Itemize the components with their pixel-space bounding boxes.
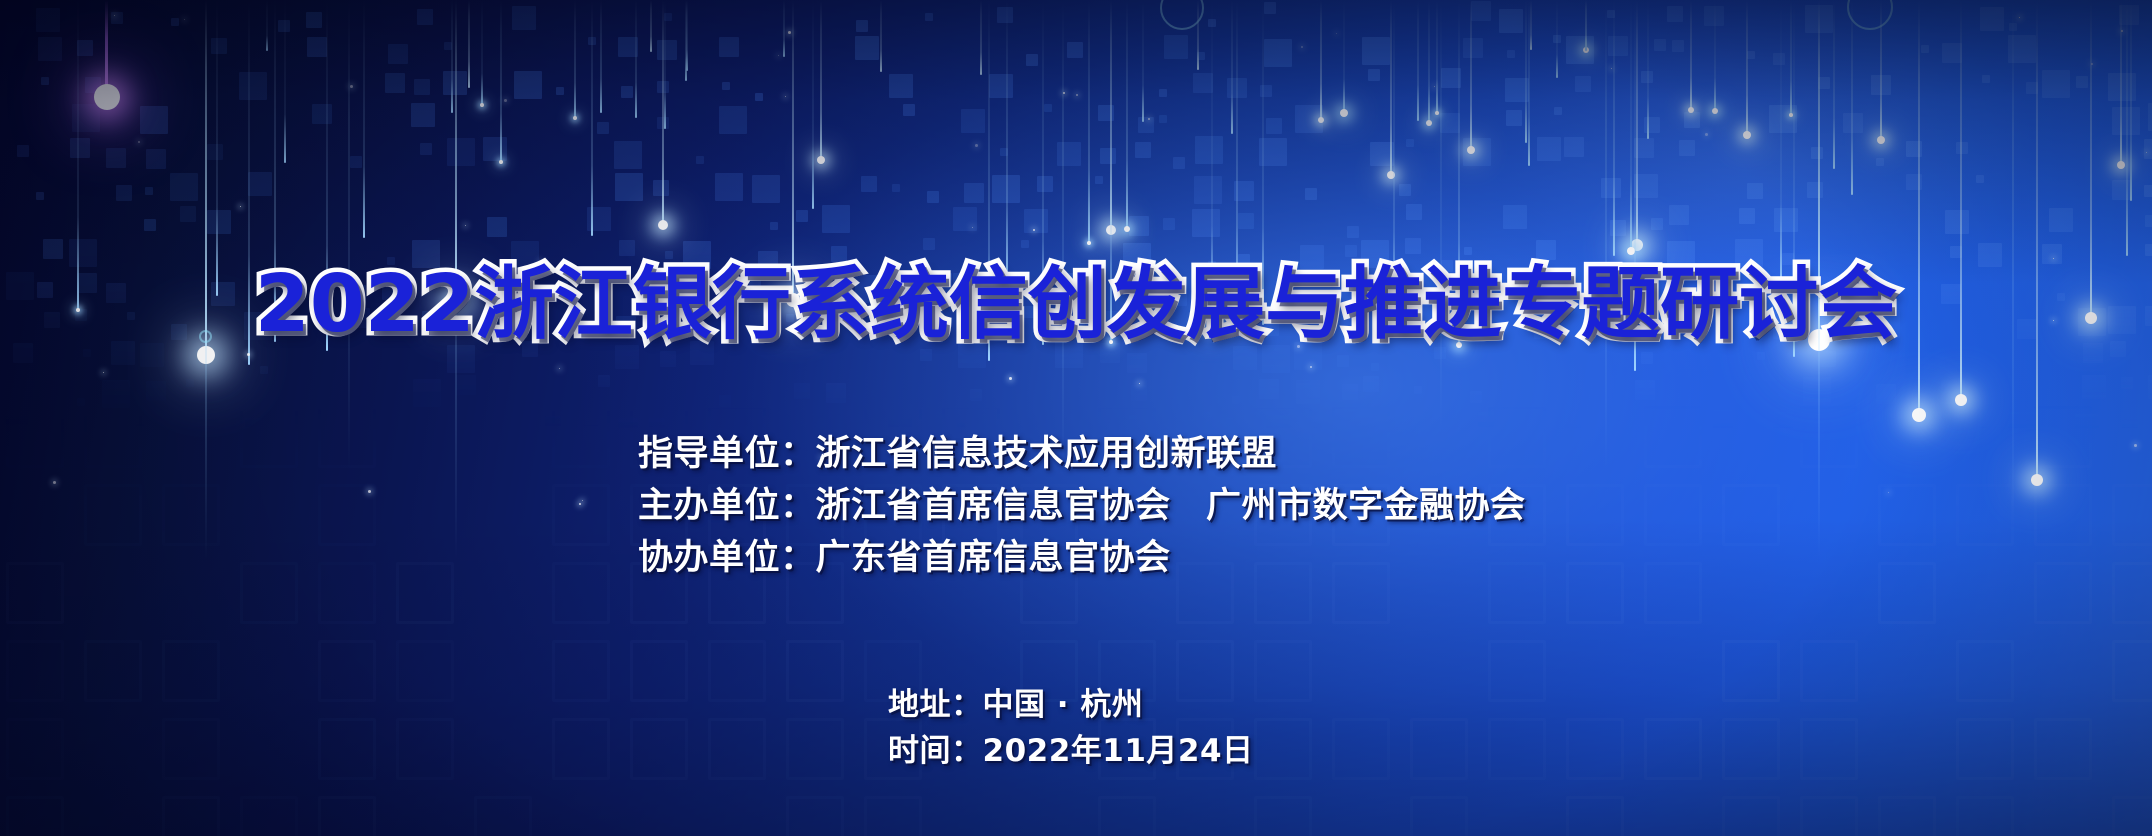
- outlined-square: [2034, 562, 2092, 624]
- light-trail: [1428, 0, 1430, 123]
- mosaic-square: [1608, 36, 1628, 56]
- outlined-square: [318, 484, 376, 546]
- mosaic-square: [1195, 136, 1223, 164]
- outlined-square: [552, 718, 610, 780]
- mosaic-square: [903, 104, 915, 116]
- outlined-square: [318, 640, 376, 702]
- mosaic-square: [13, 343, 33, 363]
- mosaic-square: [1406, 139, 1414, 147]
- light-trail: [1320, 0, 1322, 120]
- mosaic-square: [1363, 376, 1379, 392]
- light-trail-line: [1714, 0, 1716, 111]
- mosaic-square: [696, 156, 704, 164]
- outlined-square: [6, 406, 64, 468]
- vertical-light-streak: [1062, 0, 1064, 470]
- light-trail: [216, 0, 218, 296]
- mosaic-square: [1024, 209, 1048, 233]
- outlined-square: [1800, 640, 1858, 702]
- mosaic-square: [1601, 178, 1621, 198]
- light-trail: [2126, 0, 2128, 256]
- light-trail-line: [574, 0, 576, 118]
- mosaic-square: [388, 44, 408, 64]
- light-trail: [591, 0, 593, 236]
- mosaic-square: [1950, 246, 1962, 258]
- outlined-square: [1098, 796, 1156, 836]
- light-trail: [1556, 0, 1558, 78]
- mosaic-square: [1575, 76, 1591, 92]
- mosaic-square: [2108, 73, 2136, 101]
- mosaic-square: [1610, 220, 1626, 236]
- outlined-square: [552, 640, 610, 702]
- mosaic-square: [38, 37, 62, 61]
- light-trail: [574, 0, 576, 118]
- sparkle-dot: [1434, 86, 1435, 87]
- mosaic-square: [1266, 118, 1282, 134]
- mosaic-square: [2075, 414, 2099, 438]
- mosaic-square: [239, 72, 267, 100]
- outlined-square: [1254, 718, 1312, 780]
- light-trail-line: [1880, 0, 1882, 140]
- mosaic-square: [722, 82, 730, 90]
- outlined-square: [318, 796, 376, 836]
- mosaic-square: [116, 185, 132, 201]
- mosaic-square: [186, 379, 194, 387]
- light-trail-line: [363, 0, 365, 238]
- light-trail-line: [1585, 0, 1587, 50]
- light-trail-line: [1585, 0, 1587, 51]
- mosaic-square: [1342, 384, 1358, 400]
- sparkle-dot: [975, 144, 978, 147]
- light-trail: [2130, 0, 2132, 201]
- mosaic-square: [1260, 85, 1272, 97]
- mosaic-square: [2112, 180, 2132, 200]
- mosaic-square: [1704, 6, 1724, 26]
- mosaic-square: [1259, 138, 1287, 166]
- event-date: 时间：2022年11月24日: [888, 728, 1254, 774]
- mosaic-square: [102, 380, 130, 408]
- mosaic-square: [657, 81, 669, 93]
- mosaic-square: [619, 240, 635, 256]
- mosaic-square: [719, 395, 731, 407]
- outlined-square: [84, 406, 142, 468]
- outlined-square: [396, 562, 454, 624]
- light-trail-line: [284, 0, 286, 163]
- mosaic-square: [1441, 68, 1461, 88]
- mosaic-square: [2112, 107, 2140, 135]
- light-trail-line: [820, 0, 822, 160]
- mosaic-square: [588, 37, 596, 45]
- light-trail-orb: [1877, 136, 1885, 144]
- mosaic-square: [211, 38, 227, 54]
- mosaic-square: [583, 425, 599, 441]
- outlined-square: [162, 640, 220, 702]
- light-trail-line: [650, 0, 652, 52]
- vertical-light-streak: [1440, 0, 1442, 430]
- mosaic-square: [2144, 139, 2152, 159]
- light-trail-line: [1690, 0, 1692, 110]
- mosaic-square: [992, 175, 1020, 203]
- mosaic-square: [1654, 39, 1666, 51]
- outlined-square: [708, 640, 766, 702]
- mosaic-square: [1131, 385, 1147, 401]
- mosaic-square: [1305, 188, 1317, 200]
- light-trail-line: [1530, 0, 1532, 50]
- mosaic-square: [260, 366, 268, 374]
- mosaic-square: [1129, 415, 1137, 423]
- mosaic-square: [171, 18, 179, 26]
- light-trail: [1006, 0, 1008, 294]
- mosaic-square: [794, 383, 810, 399]
- light-trail: [1110, 0, 1112, 230]
- light-trail: [1880, 0, 1882, 140]
- mosaic-square: [1194, 176, 1222, 204]
- mosaic-square: [597, 122, 609, 134]
- mosaic-square: [1345, 245, 1357, 257]
- mosaic-square: [1405, 238, 1421, 254]
- outlined-square: [2112, 640, 2152, 702]
- mosaic-square: [514, 71, 542, 99]
- sparkle-dot: [1009, 377, 1012, 380]
- outlined-square: [84, 484, 142, 546]
- mosaic-square: [1226, 418, 1234, 426]
- mosaic-square: [1871, 75, 1891, 95]
- light-trail: [284, 0, 286, 163]
- mosaic-square: [1259, 379, 1279, 399]
- mosaic-square: [111, 341, 135, 365]
- mosaic-square: [1499, 9, 1523, 33]
- mosaic-square: [1264, 39, 1292, 67]
- mosaic-square: [36, 8, 60, 32]
- mosaic-square: [77, 398, 85, 406]
- light-trail-orb: [1106, 225, 1116, 235]
- organizer-line-host: 主办单位：浙江省首席信息官协会 广州市数字金融协会: [638, 480, 1526, 532]
- mosaic-square: [1906, 174, 1922, 190]
- light-trail-line: [216, 0, 218, 296]
- light-trail-line: [500, 0, 502, 162]
- sparkle-dot: [138, 141, 140, 143]
- light-trail-line: [812, 0, 814, 209]
- mosaic-square: [443, 71, 467, 95]
- outlined-square: [1488, 718, 1546, 780]
- mosaic-square: [1192, 209, 1220, 237]
- outlined-square: [1800, 718, 1858, 780]
- light-trail-line: [2126, 0, 2128, 256]
- light-trail: [1833, 0, 1835, 169]
- light-trail: [635, 0, 637, 118]
- mosaic-square: [1163, 218, 1175, 230]
- light-trail: [1746, 0, 1748, 135]
- mosaic-square: [2121, 377, 2133, 389]
- light-trail-orb: [817, 156, 825, 164]
- mosaic-square: [245, 418, 261, 434]
- mosaic-square: [36, 192, 44, 200]
- light-trail-line: [1126, 0, 1128, 229]
- mosaic-square: [826, 383, 846, 403]
- mosaic-square: [989, 74, 1013, 98]
- mosaic-square: [1021, 240, 1029, 248]
- light-trail-line: [1417, 0, 1419, 121]
- light-trail-line: [662, 0, 664, 225]
- outlined-square: [786, 718, 844, 780]
- mosaic-square: [140, 343, 164, 367]
- mosaic-square: [1667, 6, 1683, 22]
- outlined-square: [2034, 406, 2092, 468]
- mosaic-square: [1641, 71, 1653, 83]
- mosaic-square: [752, 175, 780, 203]
- outlined-square: [474, 796, 532, 836]
- light-trail-line: [451, 0, 453, 113]
- outlined-square: [1566, 562, 1624, 624]
- outlined-square: [318, 718, 376, 780]
- mosaic-square: [614, 141, 642, 169]
- outlined-square: [2034, 718, 2092, 780]
- mosaic-square: [1565, 424, 1581, 440]
- outlined-square: [1956, 796, 2014, 836]
- mosaic-square: [545, 416, 561, 432]
- light-trail: [1530, 0, 1532, 50]
- mosaic-square: [1635, 380, 1655, 400]
- sparkle-dot: [1301, 46, 1303, 48]
- outlined-square: [396, 718, 454, 780]
- mosaic-square: [1679, 140, 1695, 156]
- light-trail-line: [1636, 0, 1638, 245]
- outlined-square: [162, 718, 220, 780]
- light-trail-line: [1613, 0, 1615, 256]
- light-trail-orb: [1087, 241, 1091, 245]
- sparkle-dot: [1705, 133, 1708, 136]
- mosaic-square: [1337, 355, 1349, 367]
- organizer-line-guidance: 指导单位：浙江省信息技术应用创新联盟: [638, 428, 1526, 480]
- mosaic-square: [1843, 113, 1863, 133]
- mosaic-square: [1907, 418, 1923, 434]
- mosaic-square: [1044, 104, 1052, 112]
- organizer-line-co-host: 协办单位：广东省首席信息官协会: [638, 532, 1526, 584]
- mosaic-square: [755, 93, 763, 101]
- light-trail-line: [1833, 0, 1835, 169]
- outlined-square: [1956, 640, 2014, 702]
- mosaic-square: [1057, 142, 1081, 166]
- glow-ring: [1847, 0, 1893, 30]
- light-trail-orb: [1124, 226, 1130, 232]
- outlined-square: [318, 406, 376, 468]
- light-trail: [783, 0, 785, 57]
- light-trail-orb: [499, 160, 503, 164]
- light-trail: [792, 0, 794, 300]
- mosaic-square: [456, 375, 476, 395]
- light-trail-orb: [1467, 146, 1475, 154]
- mosaic-square: [664, 13, 672, 21]
- mosaic-square: [1713, 410, 1733, 430]
- light-trail: [662, 0, 664, 225]
- light-trail-line: [455, 0, 457, 300]
- light-trail: [1790, 0, 1792, 115]
- outlined-square: [864, 796, 922, 836]
- sparkle-dot: [247, 353, 250, 356]
- mosaic-square-pattern: [0, 0, 2152, 430]
- mosaic-square: [483, 137, 507, 161]
- mosaic-square: [2042, 70, 2070, 98]
- mosaic-square: [1818, 77, 1830, 89]
- light-trail: [1714, 0, 1716, 111]
- light-trail: [1528, 0, 1530, 166]
- outlined-square: [162, 796, 220, 836]
- outlined-square: [552, 562, 610, 624]
- mosaic-square: [1197, 52, 1205, 60]
- sparkle-dot: [1033, 229, 1035, 231]
- sparkle-dot: [559, 368, 560, 369]
- light-trail-orb: [1426, 120, 1432, 126]
- mosaic-square: [2122, 419, 2138, 435]
- light-trail-orb: [1955, 394, 1967, 406]
- mosaic-square: [1554, 107, 1562, 115]
- mosaic-square: [1193, 73, 1213, 93]
- light-trail-line: [1630, 0, 1632, 251]
- light-trail: [1525, 0, 1527, 143]
- mosaic-square: [1980, 7, 2004, 31]
- light-trail-orb: [1743, 131, 1751, 139]
- light-trail-orb: [658, 220, 668, 230]
- outlined-square: [1644, 562, 1702, 624]
- mosaic-square: [1503, 205, 1527, 229]
- outlined-square: [1644, 484, 1702, 546]
- mosaic-square: [1820, 351, 1836, 367]
- outlined-square: [396, 640, 454, 702]
- light-trail-line: [880, 0, 882, 72]
- outlined-square: [1878, 484, 1936, 546]
- mosaic-square: [385, 73, 405, 93]
- light-trail-orb: [1688, 107, 1694, 113]
- light-trail-line: [686, 0, 688, 71]
- sparkle-dot: [368, 490, 371, 493]
- mosaic-square: [587, 207, 611, 231]
- mosaic-square: [1295, 105, 1323, 133]
- sparkle-dot: [350, 85, 353, 88]
- light-trail-line: [685, 0, 687, 81]
- light-trail-line: [266, 0, 268, 51]
- light-trail-line: [2036, 0, 2038, 480]
- magenta-light-trail: [105, 0, 108, 95]
- light-trail: [1636, 0, 1638, 245]
- light-trail-line: [1851, 0, 1853, 195]
- outlined-square: [630, 718, 688, 780]
- mosaic-square: [1978, 243, 2002, 267]
- mosaic-square: [1371, 363, 1379, 371]
- mosaic-square: [1135, 142, 1151, 158]
- mosaic-square: [1976, 175, 1984, 183]
- mosaic-square: [953, 207, 977, 231]
- mosaic-square: [861, 176, 877, 192]
- mosaic-square: [1000, 148, 1008, 156]
- mosaic-square: [1537, 137, 1561, 161]
- light-trail-line: [1790, 0, 1792, 115]
- outlined-square: [2112, 796, 2152, 836]
- mosaic-square: [1463, 138, 1491, 166]
- light-trail: [1436, 0, 1438, 113]
- event-address: 地址：中国 · 杭州: [888, 682, 1254, 728]
- light-trail-orb: [1318, 117, 1324, 123]
- light-trail-line: [1110, 0, 1112, 230]
- mosaic-square: [1159, 89, 1167, 97]
- mosaic-square: [1406, 204, 1422, 220]
- light-trail-line: [1746, 0, 1748, 135]
- sparkle-dot: [582, 500, 583, 501]
- mosaic-square: [855, 36, 879, 60]
- light-trail: [1197, 0, 1199, 70]
- mosaic-square: [970, 389, 982, 401]
- outlined-square: [1566, 718, 1624, 780]
- mosaic-square: [1982, 75, 1990, 83]
- mosaic-square: [41, 77, 49, 85]
- mosaic-square: [1607, 10, 1615, 18]
- mosaic-square: [796, 210, 808, 222]
- light-trail-line: [1780, 0, 1782, 291]
- mosaic-square: [1684, 112, 1700, 128]
- outlined-square: [1644, 406, 1702, 468]
- light-trail: [455, 0, 457, 300]
- sparkle-dot: [785, 96, 786, 97]
- light-trail-line: [1231, 0, 1233, 134]
- mosaic-square: [146, 149, 166, 169]
- mosaic-square: [1347, 226, 1359, 238]
- outlined-square: [1878, 796, 1936, 836]
- vertical-light-streak: [2012, 0, 2014, 520]
- light-trail-line: [1343, 0, 1345, 113]
- mosaic-square: [1232, 396, 1240, 404]
- mosaic-square: [413, 379, 441, 407]
- sparkle-dot: [579, 503, 581, 505]
- light-trail-orb: [2117, 161, 2125, 169]
- light-trail-line: [792, 0, 794, 300]
- outlined-square: [1722, 484, 1780, 546]
- mosaic-square: [2008, 412, 2036, 440]
- mosaic-square: [1941, 380, 1965, 404]
- light-trail: [1630, 0, 1632, 251]
- outlined-square: [1254, 640, 1312, 702]
- mosaic-square: [1669, 205, 1689, 225]
- light-trail-line: [1428, 0, 1430, 123]
- mosaic-square: [1739, 208, 1755, 224]
- light-trail: [77, 0, 79, 310]
- mosaic-square: [2009, 23, 2017, 31]
- outlined-square: [318, 562, 376, 624]
- mosaic-square: [1876, 384, 1896, 404]
- light-trail-line: [1647, 0, 1649, 139]
- sparkle-dot: [1063, 92, 1065, 94]
- mosaic-square: [1440, 113, 1460, 133]
- mosaic-square: [170, 173, 198, 201]
- mosaic-square: [1757, 352, 1765, 360]
- sparkle-dot: [1888, 492, 1889, 493]
- sparkle-dot: [504, 99, 507, 102]
- light-trail-line: [600, 0, 602, 113]
- mosaic-square: [1566, 36, 1594, 64]
- light-trail: [1918, 0, 1920, 415]
- mosaic-square: [17, 145, 29, 157]
- light-trail-line: [1320, 0, 1322, 120]
- mosaic-square: [719, 37, 739, 57]
- light-trail: [980, 0, 982, 75]
- light-trail: [481, 0, 483, 105]
- sparkle-dot: [240, 206, 241, 207]
- outlined-square: [2112, 484, 2152, 546]
- mosaic-square: [1747, 183, 1763, 199]
- mosaic-square: [1129, 216, 1149, 236]
- light-trail-orb: [1583, 47, 1589, 53]
- light-trail: [1142, 0, 1144, 122]
- mosaic-square: [2148, 375, 2152, 399]
- mosaic-square: [997, 7, 1013, 23]
- light-trail-line: [2130, 0, 2132, 201]
